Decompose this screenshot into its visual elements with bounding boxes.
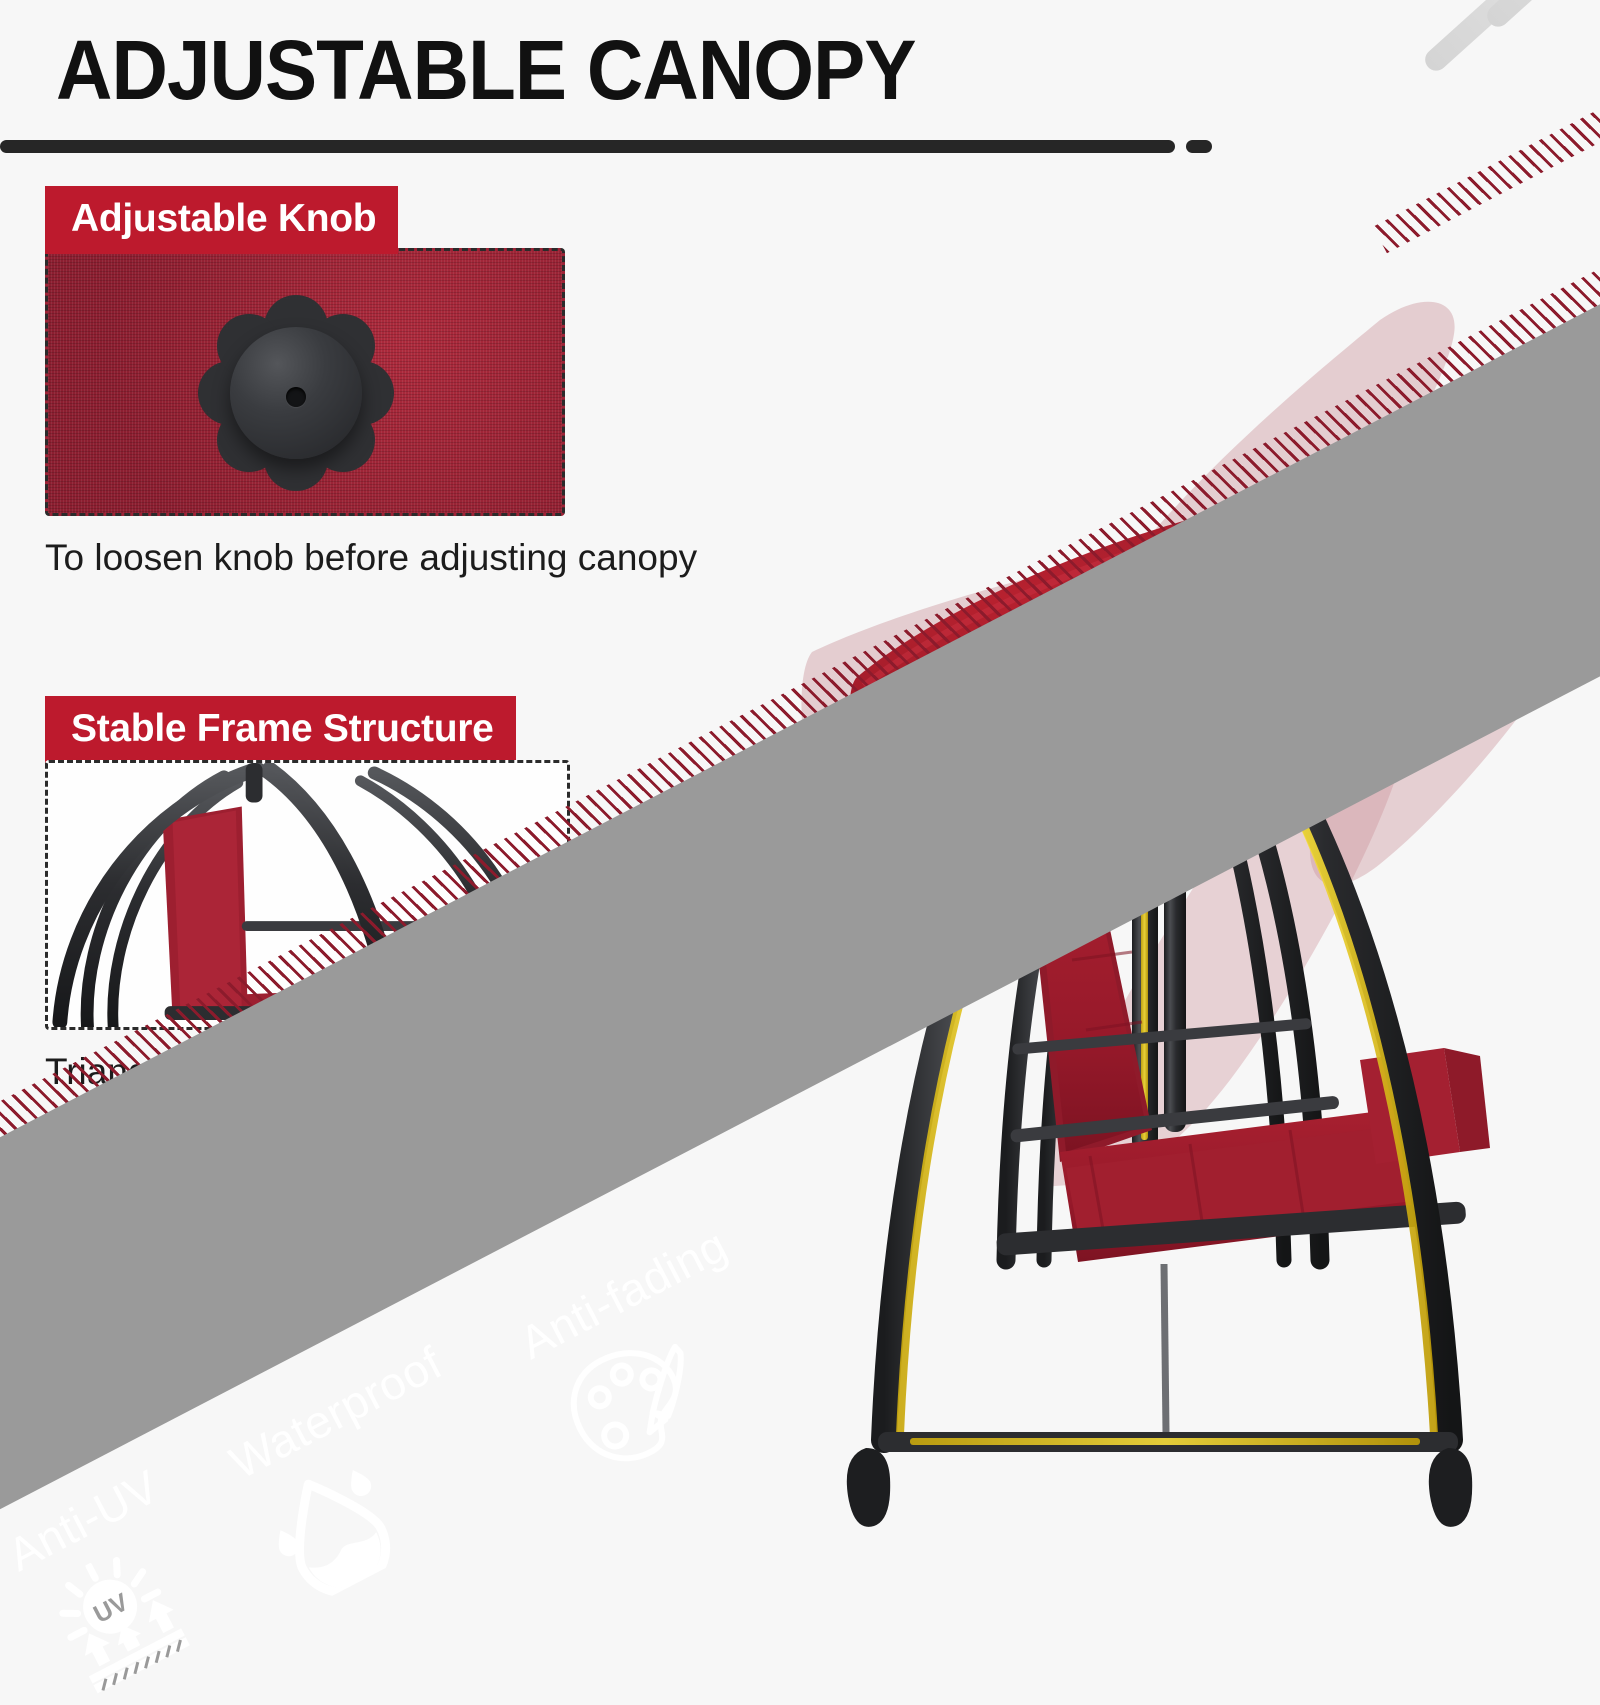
feature-caption: To loosen knob before adjusting canopy: [45, 534, 697, 583]
knob-center-screw: [286, 387, 306, 407]
feature-ribbon-label: Stable Frame Structure: [45, 696, 516, 764]
swing-chair-svg: [760, 200, 1600, 1600]
knob-illustration: [200, 297, 392, 489]
stable-frame-photo: [45, 760, 570, 1030]
base-cross-bar: [847, 1264, 1472, 1527]
page-title: ADJUSTABLE CANOPY: [56, 22, 915, 119]
feature-caption: Trianguler structures add more stability: [45, 1048, 683, 1097]
feature-block-stable-frame: Stable Frame Structure: [45, 696, 683, 1097]
badge-anti-uv: Anti-UV UV: [0, 1459, 232, 1705]
feature-ribbon-label: Adjustable Knob: [45, 186, 398, 254]
header-divider: [0, 140, 1175, 153]
decorative-stripe: [1483, 0, 1600, 31]
badge-waterproof: Waterproof: [221, 1335, 515, 1613]
frame-structure-illustration: [48, 763, 567, 1030]
adjustable-knob-photo: [45, 248, 565, 516]
badge-anti-fading: Anti-fading: [511, 1218, 800, 1493]
header-divider-dash: [1186, 140, 1212, 153]
feature-block-adjustable-knob: Adjustable Knob To loosen knob before ad…: [45, 186, 697, 583]
product-illustration: [760, 200, 1600, 1600]
